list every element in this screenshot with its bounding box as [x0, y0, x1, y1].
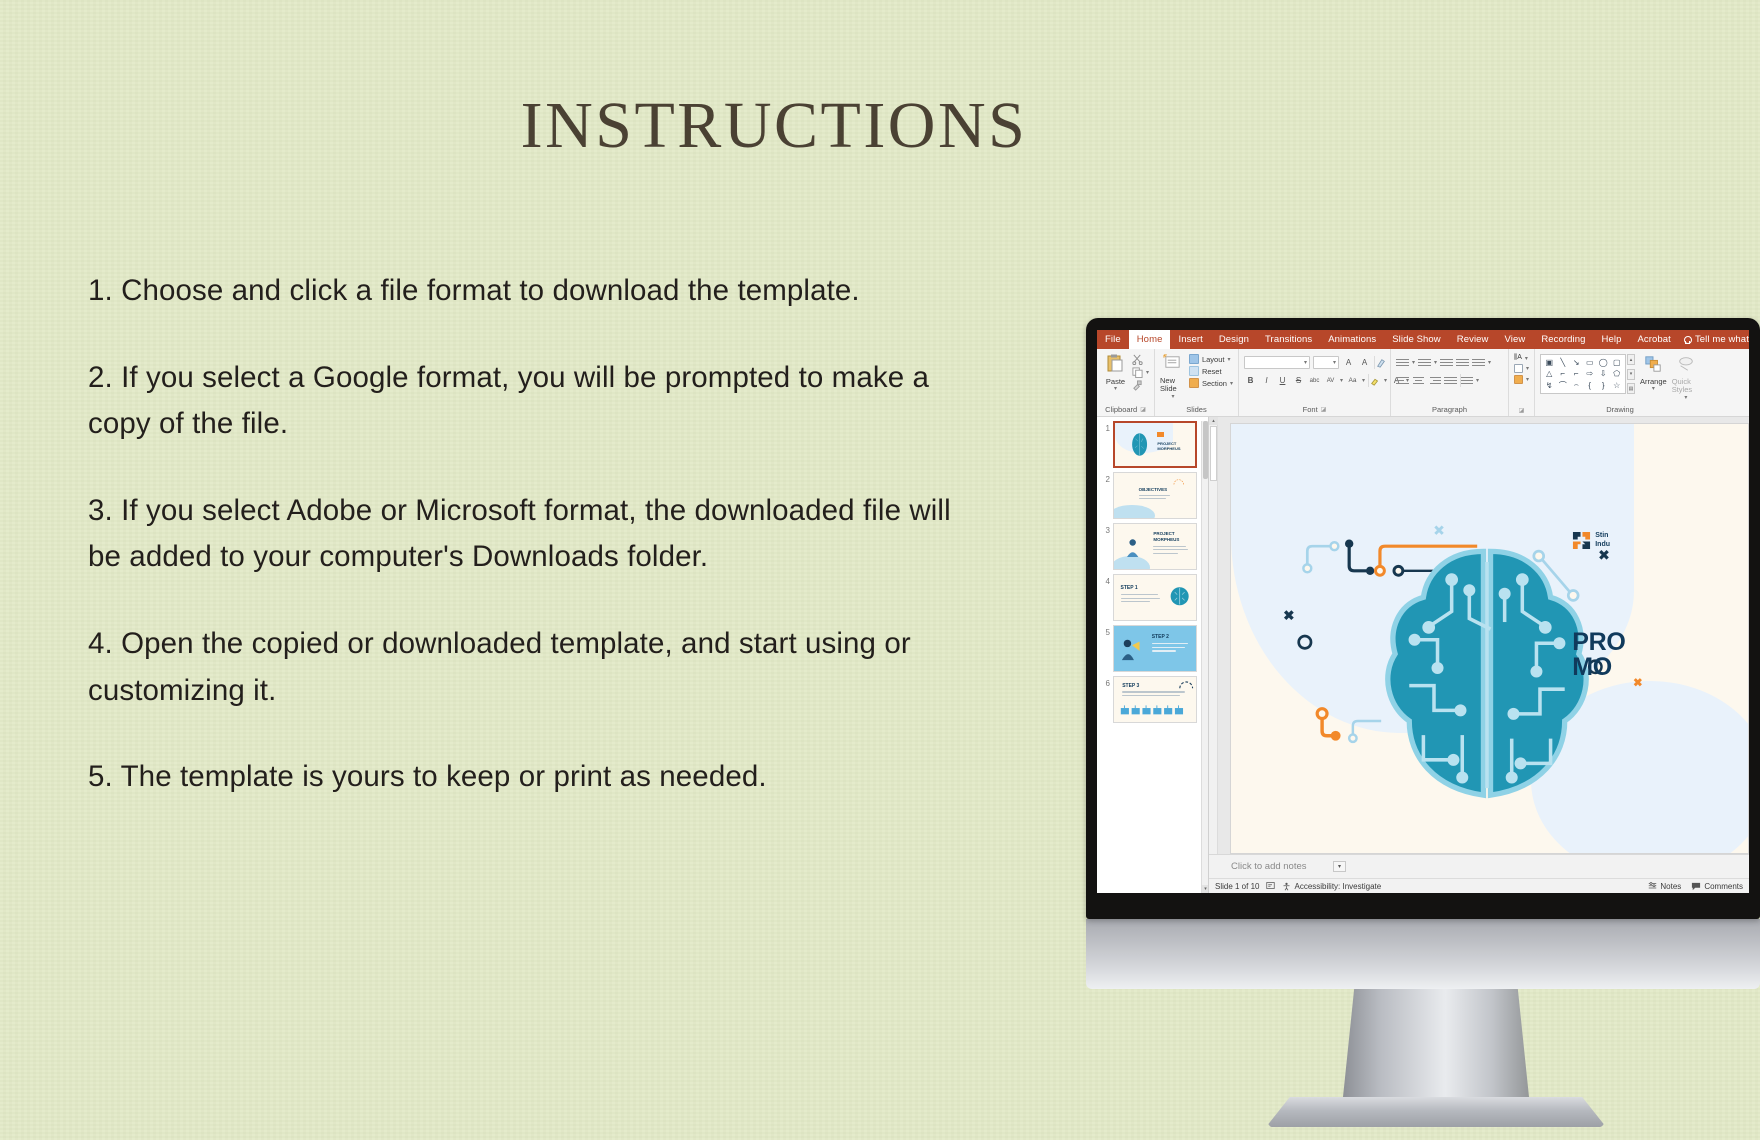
numbering-chevron-down-icon[interactable]: ▾ — [1434, 359, 1437, 366]
strikethrough-button[interactable]: S — [1292, 374, 1305, 387]
copy-icon — [1132, 367, 1143, 378]
format-painter-button[interactable] — [1132, 380, 1149, 391]
shape-arc-icon[interactable]: ⌢ — [1574, 380, 1579, 390]
thumbnail-preview[interactable]: STEP 1 — [1113, 574, 1197, 621]
comments-toggle-button[interactable]: Comments — [1691, 882, 1743, 891]
ribbon-tab-bar: File Home Insert Design Transitions Anim… — [1097, 330, 1749, 349]
clear-format-icon — [1376, 358, 1386, 368]
ribbon-tab-review[interactable]: Review — [1449, 330, 1497, 349]
thumbnail-scrollbar-handle[interactable] — [1203, 421, 1208, 479]
brain-graphic — [1381, 536, 1593, 811]
shape-left-brace-icon[interactable]: { — [1588, 381, 1591, 390]
shape-curve-icon[interactable]: ⌒ — [1559, 380, 1567, 391]
ribbon-tab-animations[interactable]: Animations — [1320, 330, 1384, 349]
thumbnail-item-4[interactable]: 4 STEP 1 — [1097, 574, 1208, 625]
decrease-indent-button[interactable] — [1440, 356, 1453, 369]
text-highlight-button[interactable] — [1368, 374, 1381, 387]
grow-font-button[interactable]: A — [1342, 356, 1355, 369]
thumbnail-number: 1 — [1099, 421, 1110, 433]
bold-button[interactable]: B — [1244, 374, 1257, 387]
quick-styles-chevron-down-icon[interactable]: ▾ — [1684, 395, 1687, 402]
ribbon-tab-recording[interactable]: Recording — [1533, 330, 1593, 349]
thumbnail-title: PROJECT MORPHEUS — [1157, 442, 1195, 451]
convert-smartart-button[interactable]: ▾ — [1514, 375, 1529, 384]
ribbon-group-paragraph: ▾ ▾ ▾ — [1391, 349, 1509, 416]
notes-toggle-button[interactable]: Notes — [1648, 882, 1681, 891]
ribbon-group-font: ▾ ▾ A A B I U S — [1239, 349, 1391, 416]
ribbon-tab-design[interactable]: Design — [1211, 330, 1257, 349]
monitor-stand-column — [1343, 989, 1529, 1097]
shape-triangle-icon[interactable]: △ — [1546, 369, 1552, 378]
shape-line-icon[interactable]: ╲ — [1560, 358, 1565, 367]
line-spacing-chevron-down-icon[interactable]: ▾ — [1488, 359, 1491, 366]
shapes-scroll-down-icon[interactable]: ▾ — [1627, 369, 1635, 380]
ribbon-tab-view[interactable]: View — [1497, 330, 1534, 349]
slide-vertical-scrollbar[interactable]: ▴ — [1209, 417, 1218, 854]
line-spacing-button[interactable] — [1472, 356, 1485, 369]
instruction-item-5: 5. The template is yours to keep or prin… — [88, 754, 968, 801]
cut-button[interactable] — [1132, 354, 1149, 365]
language-icon[interactable] — [1266, 881, 1275, 892]
editor-main: 1 PROJECT MORPHEUS 2 OBJ — [1097, 417, 1749, 893]
thumbnail-number: 4 — [1099, 574, 1110, 586]
arrange-icon — [1644, 355, 1662, 376]
reset-button[interactable]: Reset — [1189, 366, 1233, 376]
quick-styles-button[interactable]: Quick Styles ▾ — [1672, 354, 1700, 402]
layout-button[interactable]: Layout ▾ — [1189, 354, 1233, 364]
comment-icon — [1691, 882, 1701, 891]
thumbnail-scroll-down-icon[interactable]: ▾ — [1202, 885, 1209, 893]
shape-down-arrow-icon[interactable]: ⇩ — [1600, 369, 1607, 378]
accessibility-icon — [1282, 882, 1291, 891]
ribbon-tab-file[interactable]: File — [1097, 330, 1129, 349]
section-button[interactable]: Section ▾ — [1189, 378, 1233, 388]
thumbnail-title: OBJECTIVES — [1139, 487, 1168, 492]
thumbnail-preview[interactable]: OBJECTIVES — [1113, 472, 1197, 519]
ribbon-group-paragraph-extra: ⫼A▾ ▾ ▾ ◪ — [1509, 349, 1535, 416]
shapes-more-icon[interactable]: ▤ — [1627, 383, 1635, 394]
notes-placeholder: Click to add notes — [1231, 861, 1307, 872]
scissors-icon — [1132, 354, 1143, 365]
slide-scrollbar-handle[interactable] — [1210, 426, 1217, 481]
underline-button[interactable]: U — [1276, 374, 1289, 387]
slide-thumbnail-panel[interactable]: 1 PROJECT MORPHEUS 2 OBJ — [1097, 417, 1209, 893]
ribbon-group-label-paragraph: Paragraph — [1396, 405, 1503, 416]
align-text-button[interactable]: ▾ — [1514, 364, 1529, 373]
change-case-chevron-down-icon[interactable]: ▾ — [1362, 377, 1365, 384]
clipboard-dialog-launcher[interactable]: ◪ — [1140, 406, 1146, 413]
text-direction-button[interactable]: ⫼A▾ — [1514, 354, 1528, 362]
slide-scroll-up-icon[interactable]: ▴ — [1209, 417, 1218, 425]
ribbon-group-label-font: Font ◪ — [1244, 405, 1385, 416]
instruction-item-4: 4. Open the copied or downloaded templat… — [88, 621, 968, 714]
columns-button[interactable] — [1460, 374, 1473, 387]
reset-icon — [1189, 366, 1199, 376]
slide-canvas[interactable]: Stin Indu PRO MO — [1230, 423, 1749, 854]
copy-button[interactable]: ▾ — [1132, 367, 1149, 378]
paste-icon — [1105, 353, 1125, 376]
ribbon-group-clipboard: Paste ▾ ▾ — [1097, 349, 1155, 416]
thumbnail-preview[interactable]: PROJECT MORPHEUS — [1113, 421, 1197, 468]
shape-star-icon[interactable]: ☆ — [1613, 381, 1620, 390]
ribbon-group-label-drawing: Drawing — [1540, 405, 1700, 416]
align-center-button[interactable] — [1412, 374, 1425, 387]
section-icon — [1189, 378, 1199, 388]
ribbon: Paste ▾ ▾ — [1097, 349, 1749, 417]
change-case-button[interactable]: Aa — [1346, 374, 1359, 387]
paragraph-dialog-launcher-row: ◪ — [1514, 407, 1529, 416]
accessibility-status[interactable]: Accessibility: Investigate — [1282, 882, 1381, 891]
align-right-button[interactable] — [1428, 374, 1441, 387]
instruction-item-2: 2. If you select a Google format, you wi… — [88, 355, 968, 448]
columns-chevron-down-icon[interactable]: ▾ — [1476, 377, 1479, 384]
layout-icon — [1189, 354, 1199, 364]
new-slide-chevron-down-icon[interactable]: ▾ — [1171, 394, 1174, 401]
new-slide-button[interactable]: New Slide ▾ — [1160, 352, 1186, 401]
monitor-mockup: File Home Insert Design Transitions Anim… — [1086, 318, 1760, 1127]
new-slide-label: New Slide — [1160, 377, 1186, 394]
ribbon-tab-insert[interactable]: Insert — [1170, 330, 1210, 349]
ribbon-group-label-slides: Slides — [1160, 405, 1233, 416]
font-size-select[interactable]: ▾ — [1313, 356, 1339, 369]
notes-icon — [1648, 882, 1657, 891]
company-logo-icon — [1572, 531, 1591, 550]
thumbnail-number: 5 — [1099, 625, 1110, 637]
arrange-button[interactable]: Arrange ▾ — [1640, 354, 1667, 393]
ribbon-tab-home[interactable]: Home — [1129, 330, 1171, 349]
quick-styles-label: Quick Styles — [1672, 378, 1700, 395]
bullets-chevron-down-icon[interactable]: ▾ — [1412, 359, 1415, 366]
instructions-list: 1. Choose and click a file format to dow… — [88, 268, 968, 801]
paste-chevron-down-icon[interactable]: ▾ — [1114, 386, 1117, 393]
tell-me-label: Tell me what you want to do — [1695, 334, 1749, 345]
ribbon-group-label-clipboard: Clipboard ◪ — [1102, 405, 1149, 416]
layout-chevron-down-icon[interactable]: ▾ — [1227, 356, 1230, 363]
text-shadow-button[interactable]: abc — [1308, 374, 1321, 387]
thumbnail-number: 6 — [1099, 676, 1110, 688]
clear-formatting-button[interactable] — [1374, 356, 1387, 369]
numbering-button[interactable] — [1418, 356, 1431, 369]
thumbnail-title: PROJECT MORPHEUS — [1153, 531, 1196, 542]
thumbnail-title: STEP 3 — [1122, 683, 1139, 689]
arrange-chevron-down-icon[interactable]: ▾ — [1652, 386, 1655, 393]
thumbnail-preview[interactable]: STEP 3 — [1113, 676, 1197, 723]
increase-indent-button[interactable] — [1456, 356, 1469, 369]
slide-title[interactable]: PRO MO — [1572, 630, 1625, 681]
character-spacing-button[interactable]: AV — [1324, 374, 1337, 387]
instruction-item-1: 1. Choose and click a file format to dow… — [88, 268, 968, 315]
thumbnail-title: STEP 1 — [1121, 585, 1138, 591]
highlighter-icon — [1370, 376, 1380, 386]
justify-button[interactable] — [1444, 374, 1457, 387]
font-family-select[interactable]: ▾ — [1244, 356, 1310, 369]
notes-pane[interactable]: ▾ Click to add notes — [1209, 854, 1749, 878]
thumbnail-item-5[interactable]: 5 STEP 2 — [1097, 625, 1208, 676]
ribbon-tab-slide-show[interactable]: Slide Show — [1384, 330, 1449, 349]
thumbnail-preview[interactable]: STEP 2 — [1113, 625, 1197, 672]
slide-logo: Stin Indu — [1572, 531, 1610, 550]
monitor-bezel: File Home Insert Design Transitions Anim… — [1086, 318, 1760, 919]
page-title: INSTRUCTIONS — [0, 88, 1548, 164]
lightbulb-icon — [1683, 336, 1691, 344]
ribbon-tab-transitions[interactable]: Transitions — [1257, 330, 1320, 349]
ribbon-tab-acrobat[interactable]: Acrobat — [1629, 330, 1678, 349]
paintbrush-icon — [1132, 380, 1143, 391]
shape-oval-icon[interactable]: ◯ — [1599, 358, 1608, 367]
bullets-button[interactable] — [1396, 356, 1409, 369]
copy-chevron-down-icon[interactable]: ▾ — [1146, 369, 1149, 376]
paste-button[interactable]: Paste ▾ — [1102, 352, 1129, 393]
thumbnail-number: 3 — [1099, 523, 1110, 535]
thumbnail-item-1[interactable]: 1 PROJECT MORPHEUS — [1097, 421, 1208, 472]
shapes-gallery-scrollbar[interactable]: ▴ ▾ ▤ — [1627, 354, 1635, 394]
shape-pentagon-icon[interactable]: ⬠ — [1613, 369, 1620, 378]
paragraph-dialog-launcher[interactable]: ◪ — [1519, 407, 1525, 414]
monitor-stand-base — [1266, 1097, 1606, 1127]
shapes-gallery[interactable]: ▣ ╲ ↘ ▭ ◯ ▢ △ ⌐ ⌐ ⇨ ⇩ ⬠ — [1540, 354, 1626, 394]
align-left-button[interactable] — [1396, 374, 1409, 387]
thumbnail-item-2[interactable]: 2 OBJECTIVES — [1097, 472, 1208, 523]
slide-title-line2: MO — [1572, 655, 1625, 681]
italic-button[interactable]: I — [1260, 374, 1273, 387]
slide-editor: ▴ — [1209, 417, 1749, 893]
shape-arrow-icon[interactable]: ↘ — [1573, 358, 1580, 367]
status-bar: Slide 1 of 10 Accessibility: Investigate… — [1209, 878, 1749, 893]
section-chevron-down-icon[interactable]: ▾ — [1230, 380, 1233, 387]
new-slide-icon — [1163, 353, 1182, 375]
quick-styles-icon — [1677, 355, 1695, 376]
slide-title-line1: PRO — [1572, 630, 1625, 656]
shapes-scroll-up-icon[interactable]: ▴ — [1627, 354, 1635, 365]
ribbon-group-slides: New Slide ▾ Layout ▾ Reset — [1155, 349, 1239, 416]
shape-elbow2-icon[interactable]: ⌐ — [1574, 369, 1579, 378]
ribbon-tab-help[interactable]: Help — [1594, 330, 1630, 349]
shape-right-brace-icon[interactable]: } — [1602, 381, 1605, 390]
shape-rectangle-icon[interactable]: ▭ — [1586, 358, 1594, 367]
notes-collapse-icon[interactable]: ▾ — [1333, 861, 1346, 872]
highlight-chevron-down-icon[interactable]: ▾ — [1384, 377, 1387, 384]
shape-elbow-icon[interactable]: ⌐ — [1560, 369, 1565, 378]
shape-rounded-rect-icon[interactable]: ▢ — [1613, 358, 1621, 367]
thumbnail-item-3[interactable]: 3 PROJECT MORPHEUS — [1097, 523, 1208, 574]
tell-me-search[interactable]: Tell me what you want to do — [1679, 330, 1749, 349]
thumbnail-title: STEP 2 — [1152, 634, 1169, 640]
ribbon-group-drawing: ▣ ╲ ↘ ▭ ◯ ▢ △ ⌐ ⌐ ⇨ ⇩ ⬠ — [1535, 349, 1705, 416]
shrink-font-button[interactable]: A — [1358, 356, 1371, 369]
slide-count-label: Slide 1 of 10 — [1215, 882, 1259, 891]
character-spacing-chevron-down-icon[interactable]: ▾ — [1340, 377, 1343, 384]
shape-right-arrow-icon[interactable]: ⇨ — [1586, 369, 1593, 378]
thumbnail-preview[interactable]: PROJECT MORPHEUS — [1113, 523, 1197, 570]
shape-textbox-icon[interactable]: ▣ — [1545, 358, 1553, 367]
monitor-screen: File Home Insert Design Transitions Anim… — [1097, 330, 1749, 893]
thumbnail-item-6[interactable]: 6 STEP 3 — [1097, 676, 1208, 727]
paste-label: Paste — [1106, 378, 1125, 387]
thumbnail-number: 2 — [1099, 472, 1110, 484]
shape-freeform-icon[interactable]: ↯ — [1546, 381, 1553, 390]
arrange-label: Arrange — [1640, 378, 1667, 387]
monitor-neck — [1086, 919, 1760, 989]
company-logo-text: Stin Indu — [1595, 532, 1610, 549]
instruction-item-3: 3. If you select Adobe or Microsoft form… — [88, 488, 968, 581]
thumbnail-scrollbar[interactable]: ▾ — [1201, 421, 1208, 893]
font-dialog-launcher[interactable]: ◪ — [1321, 406, 1327, 413]
